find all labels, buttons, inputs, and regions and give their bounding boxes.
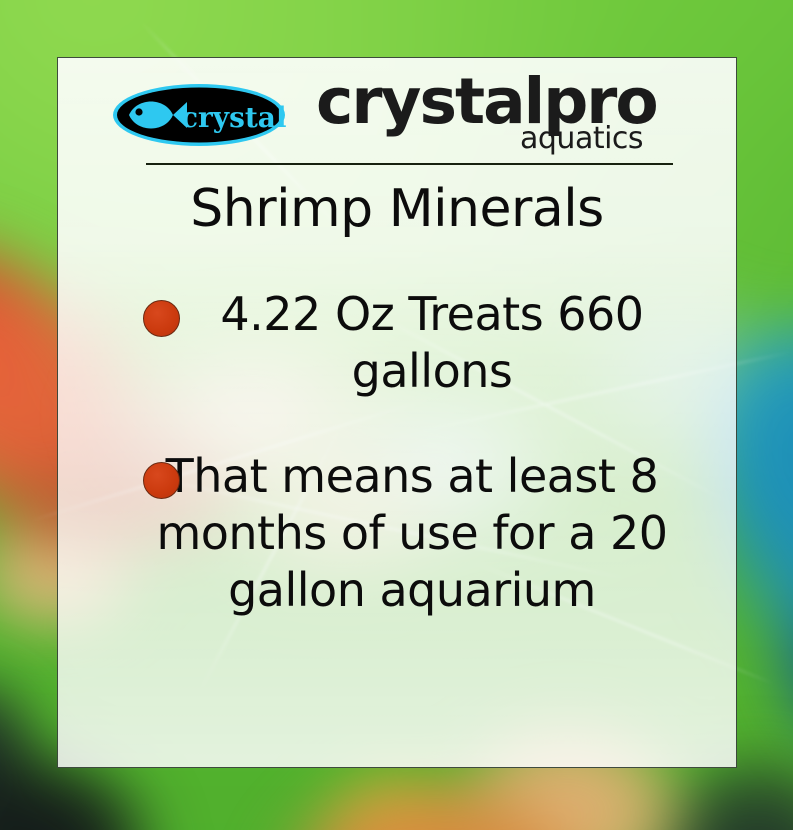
header-divider	[146, 163, 673, 165]
wordmark-sub-text: aquatics	[520, 124, 643, 154]
content-card: crystalpro crystalpro aquatics Shrimp Mi…	[57, 57, 737, 768]
feature-bullet-list: 4.22 Oz Treats 660 gallons That means at…	[58, 286, 736, 619]
bullet-dot-icon	[143, 300, 180, 337]
bullet-dot-icon	[143, 462, 180, 499]
crystalpro-wordmark: crystalpro aquatics	[316, 70, 736, 164]
crystalpro-logo-badge: crystalpro	[111, 81, 287, 149]
list-item: 4.22 Oz Treats 660 gallons	[58, 286, 736, 400]
brand-header: crystalpro crystalpro aquatics	[58, 68, 736, 164]
product-title: Shrimp Minerals	[58, 180, 736, 238]
list-item: That means at least 8 months of use for …	[58, 448, 736, 619]
logo-badge-text: crystalpro	[181, 101, 287, 134]
product-infographic: crystalpro crystalpro aquatics Shrimp Mi…	[0, 0, 793, 830]
